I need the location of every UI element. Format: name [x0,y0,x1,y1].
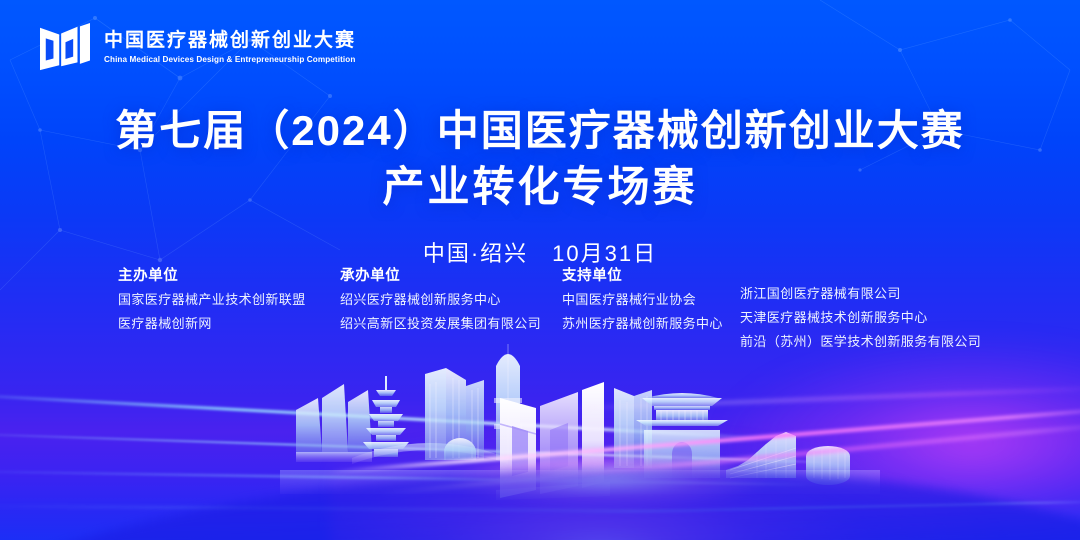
glass-skyscraper [425,368,484,460]
stepped-pyramid-building [726,432,796,478]
competition-logo-monument [496,382,610,500]
bottom-sweep-band [0,444,1080,540]
cyan-light-ray [0,432,840,464]
organizer-item: 中国医疗器械行业协会 [562,293,740,306]
organizer-heading: 支持单位 [562,264,740,285]
organizer-heading: 承办单位 [340,264,562,285]
logo-name-cn: 中国医疗器械创新创业大赛 [104,31,366,50]
traditional-gate-tower [636,393,728,478]
organizer-item: 天津医疗器械技术创新服务中心 [740,311,990,324]
title-block: 第七届（2024）中国医疗器械创新创业大赛 产业转化专场赛 中国·绍兴 10月3… [0,104,1080,268]
magenta-light-ray [380,422,1080,495]
organizer-item: 浙江国创医疗器械有限公司 [740,287,990,300]
organizer-column-support: 支持单位 中国医疗器械行业协会 苏州医疗器械创新服务中心 浙江国创医疗器械有限公… [562,264,990,359]
organizer-item: 国家医疗器械产业技术创新联盟 [118,293,340,306]
logo-name-en: China Medical Devices Design & Entrepren… [104,55,355,64]
cyan-light-ray [0,470,820,486]
twin-office-tower [614,388,652,468]
organizer-item: 医疗器械创新网 [118,317,340,330]
organizer-item: 绍兴医疗器械创新服务中心 [340,293,562,306]
magenta-light-ray [560,387,1080,411]
page-title-line1: 第七届（2024）中国医疗器械创新创业大赛 [0,104,1080,158]
organizer-heading: 主办单位 [118,264,340,285]
header-logo: 中国医疗器械创新创业大赛 China Medical Devices Desig… [38,22,366,72]
organizer-item: 绍兴高新区投资发展集团有限公司 [340,317,562,330]
organizer-column-host: 主办单位 国家医疗器械产业技术创新联盟 医疗器械创新网 [118,264,340,341]
support-column-right: 浙江国创医疗器械有限公司 天津医疗器械技术创新服务中心 前沿（苏州）医学技术创新… [740,264,990,359]
organizer-column-co-host: 承办单位 绍兴医疗器械创新服务中心 绍兴高新区投资发展集团有限公司 [340,264,562,341]
pagoda-tower [363,376,409,457]
open-book-door-logo-icon [38,22,92,72]
event-location-date: 中国·绍兴 10月31日 [0,236,1080,268]
magenta-glow [330,400,1080,540]
city-skyline-illustration [0,340,1080,540]
cyan-light-ray [0,505,720,512]
arch-bridge [352,443,508,464]
logo-text-block: 中国医疗器械创新创业大赛 China Medical Devices Desig… [104,31,366,64]
magenta-light-ray [330,406,1080,474]
modern-sail-building [296,384,372,462]
skyline-ground-haze [280,470,880,494]
poster-canvas: 中国医疗器械创新创业大赛 China Medical Devices Desig… [0,0,1080,540]
cyan-light-ray [0,392,759,439]
horizon-core-glow [400,440,820,520]
support-column-left: 支持单位 中国医疗器械行业协会 苏州医疗器械创新服务中心 [562,264,740,359]
organizer-section: 主办单位 国家医疗器械产业技术创新联盟 医疗器械创新网 承办单位 绍兴医疗器械创… [0,264,1080,359]
support-column-spacer [740,264,990,287]
organizer-item: 苏州医疗器械创新服务中心 [562,317,740,330]
page-title-line2: 产业转化专场赛 [0,160,1080,214]
round-stadium [806,446,850,485]
organizer-item: 前沿（苏州）医学技术创新服务有限公司 [740,335,990,348]
rocket-tower [494,344,522,460]
cyan-light-ray [560,501,1080,514]
